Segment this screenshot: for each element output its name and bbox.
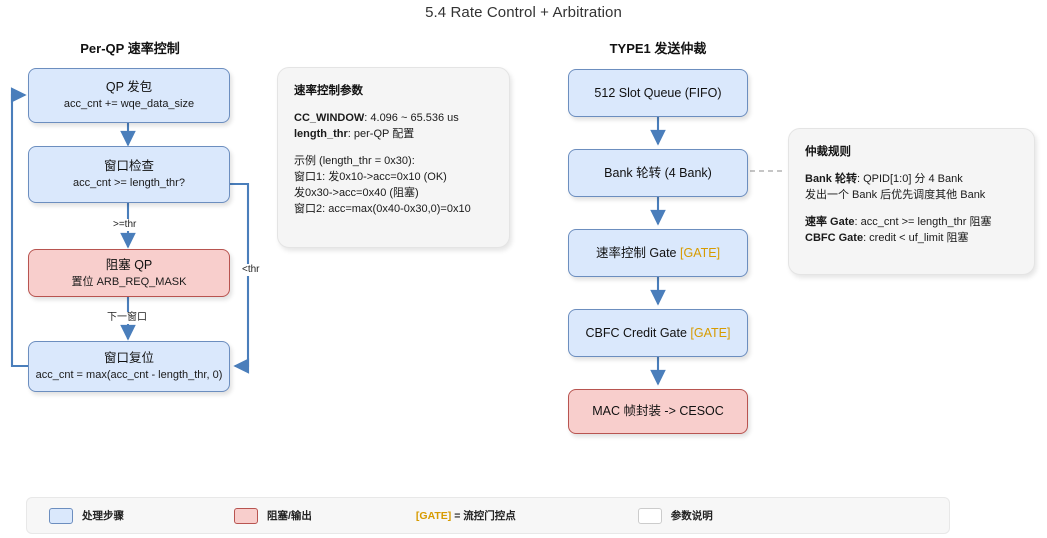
note-spacer bbox=[294, 142, 493, 153]
node-slot-queue[interactable]: 512 Slot Queue (FIFO) bbox=[568, 69, 748, 117]
note-line: 速率 Gate: acc_cnt >= length_thr 阻塞 bbox=[805, 214, 1018, 230]
legend-item-gate: [GATE] = 流控门控点 bbox=[416, 508, 516, 523]
note-rate-control-params: 速率控制参数 CC_WINDOW: 4.096 ~ 65.536 us leng… bbox=[277, 67, 510, 248]
note-line-rest: : acc_cnt >= length_thr 阻塞 bbox=[855, 216, 992, 228]
note-line: CC_WINDOW: 4.096 ~ 65.536 us bbox=[294, 110, 493, 126]
edge-label-next-window: 下一窗口 bbox=[105, 312, 149, 324]
legend-swatch-block-icon bbox=[234, 508, 258, 524]
edge-label-lt-thr: <thr bbox=[240, 264, 262, 276]
note-line: Bank 轮转: QPID[1:0] 分 4 Bank bbox=[805, 171, 1018, 187]
gate-tag: [GATE] bbox=[690, 326, 730, 340]
legend-swatch-process-icon bbox=[49, 508, 73, 524]
note-line: CBFC Gate: credit < uf_limit 阻塞 bbox=[805, 230, 1018, 246]
legend-item-block: 阻塞/输出 bbox=[234, 508, 312, 524]
note-line-bold: Bank 轮转 bbox=[805, 173, 857, 185]
node-subtitle: acc_cnt += wqe_data_size bbox=[64, 97, 194, 112]
note-spacer bbox=[805, 203, 1018, 214]
column-header-left: Per-QP 速率控制 bbox=[20, 38, 240, 57]
legend-item-note: 参数说明 bbox=[638, 508, 713, 524]
note-line-bold: CBFC Gate bbox=[805, 232, 863, 244]
gate-tag: [GATE] bbox=[680, 246, 720, 260]
node-window-reset[interactable]: 窗口复位 acc_cnt = max(acc_cnt - length_thr,… bbox=[28, 341, 230, 392]
legend-gate-tail: = 流控门控点 bbox=[451, 510, 515, 522]
note-line: 窗口1: 发0x10->acc=0x10 (OK) bbox=[294, 169, 493, 185]
node-window-check[interactable]: 窗口检查 acc_cnt >= length_thr? bbox=[28, 146, 230, 203]
legend-label-gate: [GATE] = 流控门控点 bbox=[416, 508, 516, 523]
legend-gate-tag: [GATE] bbox=[416, 510, 451, 522]
node-title-text: CBFC Credit Gate bbox=[586, 326, 687, 340]
note-line-bold: 速率 Gate bbox=[805, 216, 855, 228]
node-subtitle: acc_cnt >= length_thr? bbox=[73, 176, 185, 191]
node-qp-send[interactable]: QP 发包 acc_cnt += wqe_data_size bbox=[28, 68, 230, 123]
note-line: length_thr: per-QP 配置 bbox=[294, 126, 493, 142]
note-title: 仲裁规则 bbox=[805, 143, 1018, 159]
note-line-rest: : QPID[1:0] 分 4 Bank bbox=[857, 173, 963, 185]
page-title: 5.4 Rate Control + Arbitration bbox=[0, 4, 1047, 21]
node-title: 窗口检查 bbox=[104, 158, 154, 175]
note-line: 示例 (length_thr = 0x30): bbox=[294, 153, 493, 169]
note-line: 发出一个 Bank 后优先调度其他 Bank bbox=[805, 187, 1018, 203]
node-title: 窗口复位 bbox=[104, 350, 154, 367]
note-line: 发0x30->acc=0x40 (阻塞) bbox=[294, 185, 493, 201]
legend-swatch-note-icon bbox=[638, 508, 662, 524]
diagram-canvas: 5.4 Rate Control + Arbitration Per-QP 速率… bbox=[0, 0, 1047, 538]
note-arbitration-rules: 仲裁规则 Bank 轮转: QPID[1:0] 分 4 Bank 发出一个 Ba… bbox=[788, 128, 1035, 275]
node-title: QP 发包 bbox=[106, 79, 152, 96]
node-mac-frame-encap[interactable]: MAC 帧封装 -> CESOC bbox=[568, 389, 748, 434]
node-title: Bank 轮转 (4 Bank) bbox=[604, 165, 712, 182]
node-rate-control-gate[interactable]: 速率控制 Gate [GATE] bbox=[568, 229, 748, 277]
node-block-qp[interactable]: 阻塞 QP 置位 ARB_REQ_MASK bbox=[28, 249, 230, 297]
legend-label: 阻塞/输出 bbox=[267, 508, 312, 523]
note-line-rest: : per-QP 配置 bbox=[348, 128, 414, 140]
legend-label: 处理步骤 bbox=[82, 508, 124, 523]
legend-bar: 处理步骤 阻塞/输出 [GATE] = 流控门控点 参数说明 bbox=[26, 497, 950, 534]
node-title: MAC 帧封装 -> CESOC bbox=[592, 403, 724, 420]
note-line-bold: length_thr bbox=[294, 128, 348, 140]
node-title: 512 Slot Queue (FIFO) bbox=[594, 85, 721, 102]
edge-label-ge-thr: >=thr bbox=[111, 219, 138, 231]
note-title: 速率控制参数 bbox=[294, 82, 493, 98]
note-line-rest: : 4.096 ~ 65.536 us bbox=[364, 112, 459, 124]
node-cbfc-credit-gate[interactable]: CBFC Credit Gate [GATE] bbox=[568, 309, 748, 357]
node-title: CBFC Credit Gate [GATE] bbox=[586, 325, 731, 342]
node-title-text: 速率控制 Gate bbox=[596, 246, 677, 260]
legend-item-process: 处理步骤 bbox=[49, 508, 124, 524]
note-line: 窗口2: acc=max(0x40-0x30,0)=0x10 bbox=[294, 201, 493, 217]
node-subtitle: 置位 ARB_REQ_MASK bbox=[72, 275, 187, 290]
node-title: 速率控制 Gate [GATE] bbox=[596, 245, 720, 262]
legend-label: 参数说明 bbox=[671, 508, 713, 523]
note-line-rest: : credit < uf_limit 阻塞 bbox=[863, 232, 968, 244]
node-bank-round-robin[interactable]: Bank 轮转 (4 Bank) bbox=[568, 149, 748, 197]
column-header-right: TYPE1 发送仲裁 bbox=[558, 38, 758, 57]
note-line-bold: CC_WINDOW bbox=[294, 112, 364, 124]
node-subtitle: acc_cnt = max(acc_cnt - length_thr, 0) bbox=[36, 368, 223, 383]
node-title: 阻塞 QP bbox=[106, 257, 153, 274]
